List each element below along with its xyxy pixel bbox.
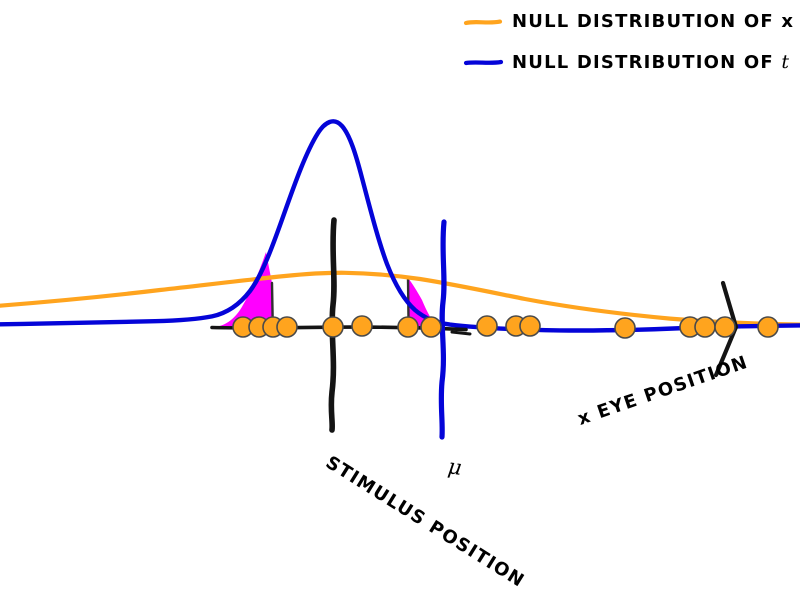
legend-entry-x-symbol: x: [781, 11, 794, 32]
data-point: [277, 317, 297, 337]
data-point: [352, 316, 372, 336]
shaded-tails-group: [214, 252, 437, 327]
data-point: [323, 317, 343, 337]
mu-reference-line: [441, 222, 444, 437]
data-point: [477, 316, 497, 336]
legend-entry-t-text: NULL DISTRIBUTION OF: [512, 52, 781, 73]
legend-swatch-orange[interactable]: [466, 22, 500, 23]
data-point: [695, 317, 715, 337]
data-point: [715, 317, 735, 337]
data-point: [758, 317, 778, 337]
null-distribution-x-curve: [0, 273, 800, 325]
data-point: [398, 317, 418, 337]
figure-canvas: NULL DISTRIBUTION OF x NULL DISTRIBUTION…: [0, 0, 800, 600]
legend-entry-t-symbol: t: [781, 51, 790, 73]
legend-swatch-blue[interactable]: [466, 62, 501, 63]
legend-entry-t[interactable]: NULL DISTRIBUTION OF t: [512, 51, 790, 73]
axis-tick-right-of-mu: [452, 332, 470, 334]
legend-entry-x[interactable]: NULL DISTRIBUTION OF x: [512, 11, 794, 32]
null-distribution-t-curve: [0, 121, 800, 330]
legend-entry-x-text: NULL DISTRIBUTION OF: [512, 11, 781, 32]
data-point: [615, 318, 635, 338]
data-point: [421, 317, 441, 337]
legend-swatches: [466, 22, 501, 63]
data-point: [520, 316, 540, 336]
